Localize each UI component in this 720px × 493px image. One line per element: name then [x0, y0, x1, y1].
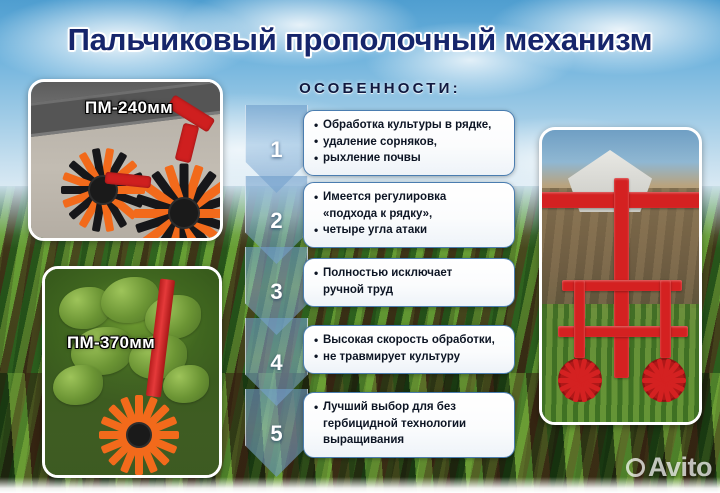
chevron-number-3: 3	[245, 279, 308, 305]
red-vertical-mast	[614, 178, 629, 378]
product-photo-implement	[539, 127, 702, 425]
feature-line: Обработка культуры в рядке,	[314, 118, 505, 133]
photo-label-pm-240: ПМ-240мм	[85, 98, 173, 118]
plant-leaf	[163, 365, 209, 403]
feature-list-4: Высокая скорость обработки, не травмируе…	[314, 333, 505, 364]
feature-list-5: Лучший выбор для без гербицидной техноло…	[314, 400, 505, 448]
feature-line: Лучший выбор для без	[314, 400, 505, 415]
feature-line: гербицидной технологии	[314, 417, 505, 432]
chevron-number-2: 2	[245, 208, 308, 234]
feature-line: выращивания	[314, 433, 505, 448]
poster-title: Пальчиковый прополочный механизм	[0, 22, 720, 58]
features-heading: ОСОБЕННОСТИ:	[250, 80, 510, 97]
feature-line: не травмирует культуру	[314, 350, 505, 365]
feature-list-1: Обработка культуры в рядке, удаление сор…	[314, 118, 505, 166]
chevron-number-4: 4	[245, 350, 308, 376]
avito-logo-icon	[626, 458, 645, 477]
finger-wheel-implement-left	[558, 358, 602, 402]
feature-line: Имеется регулировка	[314, 190, 505, 205]
feature-line: ручной труд	[314, 283, 505, 298]
avito-watermark-text: Avito	[648, 452, 712, 483]
wheel-hub-icon	[168, 197, 200, 229]
chevron-number-1: 1	[245, 137, 308, 163]
finger-wheel-implement-right	[642, 358, 686, 402]
feature-list-3: Полностью исключает ручной труд	[314, 266, 505, 297]
photo-label-pm-370: ПМ-370мм	[67, 333, 155, 353]
feature-line: четыре угла атаки	[314, 223, 505, 238]
feature-box-1: Обработка культуры в рядке, удаление сор…	[303, 110, 515, 176]
red-arm-left	[574, 280, 585, 358]
finger-wheel-pm-370	[97, 393, 181, 477]
product-photo-pm-370: ПМ-370мм	[42, 266, 222, 478]
photo-pm-370-image	[45, 269, 219, 475]
bottom-fade-overlay	[0, 477, 720, 493]
product-photo-pm-240: ПМ-240мм	[28, 79, 223, 241]
feature-line: Полностью исключает	[314, 266, 505, 281]
feature-box-2: Имеется регулировка «подхода к рядку», ч…	[303, 182, 515, 248]
feature-line: рыхление почвы	[314, 151, 505, 166]
feature-box-4: Высокая скорость обработки, не травмируе…	[303, 325, 515, 374]
chevron-number-5: 5	[245, 421, 308, 447]
feature-line: удаление сорняков,	[314, 135, 505, 150]
plant-leaf	[53, 365, 103, 405]
avito-watermark: Avito	[626, 452, 712, 483]
red-mount-bracket	[175, 123, 200, 164]
feature-box-5: Лучший выбор для без гербицидной техноло…	[303, 392, 515, 458]
red-arm-right	[660, 280, 671, 358]
photo-implement-image	[542, 130, 699, 422]
feature-line: Высокая скорость обработки,	[314, 333, 505, 348]
feature-list-2: Имеется регулировка «подхода к рядку», ч…	[314, 190, 505, 238]
poster-root: Пальчиковый прополочный механизм ОСОБЕНН…	[0, 0, 720, 493]
wheel-hub-icon	[126, 422, 152, 448]
feature-line: «подхода к рядку»,	[314, 207, 505, 222]
feature-box-3: Полностью исключает ручной труд	[303, 258, 515, 307]
